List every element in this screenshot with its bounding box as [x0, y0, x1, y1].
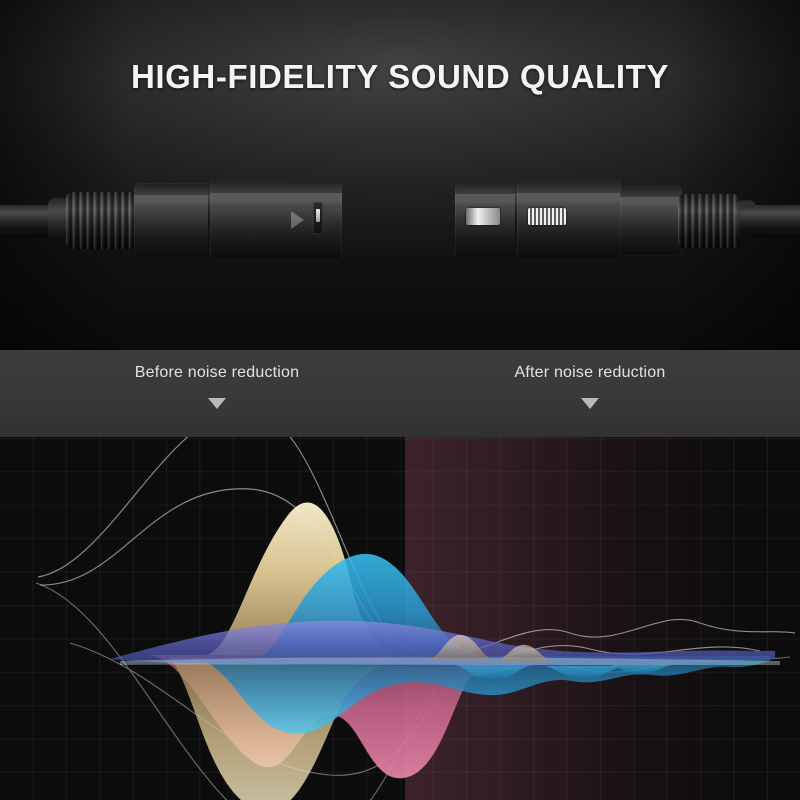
triangle-down-icon-after [581, 398, 599, 409]
sheen [620, 197, 682, 208]
page-title: HIGH-FIDELITY SOUND QUALITY [0, 58, 800, 96]
barrel-right-taper [620, 186, 682, 256]
cable-right [740, 205, 800, 235]
waveform-panel [0, 437, 800, 800]
sheen [517, 193, 621, 206]
product-marketing-image: HIGH-FIDELITY SOUND QUALITY [0, 0, 800, 800]
comparison-label-band: Before noise reduction After noise reduc… [0, 350, 800, 437]
connector-stage [0, 150, 800, 300]
barrel-left-taper [134, 183, 210, 258]
label-before-noise-reduction: Before noise reduction [67, 364, 367, 382]
label-after-noise-reduction: After noise reduction [440, 364, 740, 382]
strain-relief-right [678, 194, 740, 248]
latch-highlight [316, 209, 320, 222]
strain-relief-left [66, 192, 138, 249]
latch-slot [466, 208, 500, 225]
knurled-insert [528, 208, 566, 225]
sheen [134, 195, 210, 207]
latch-arrow-icon [291, 211, 304, 229]
sheen [455, 194, 517, 206]
waveform-graphic [0, 437, 800, 800]
triangle-down-icon-before [208, 398, 226, 409]
hero-section: HIGH-FIDELITY SOUND QUALITY [0, 0, 800, 350]
